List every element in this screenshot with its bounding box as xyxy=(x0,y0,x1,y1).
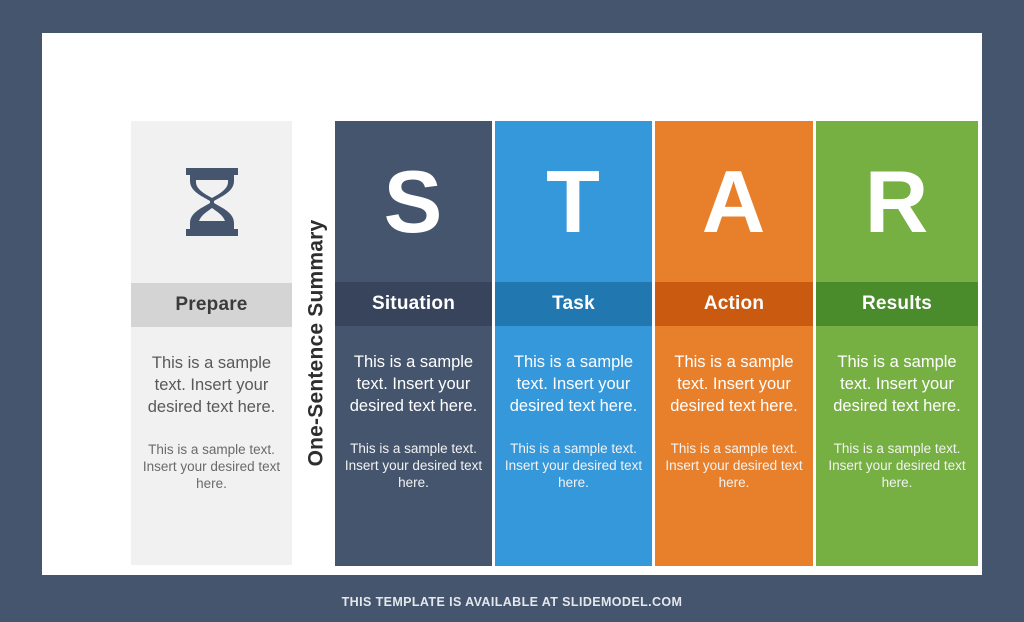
prepare-header: Prepare xyxy=(131,283,292,327)
star-body-task: This is a sample text. Insert your desir… xyxy=(495,326,652,566)
star-lead-text-action: This is a sample text. Insert your desir… xyxy=(663,352,805,418)
star-body-situation: This is a sample text. Insert your desir… xyxy=(335,326,492,566)
star-sub-text-results: This is a sample text. Insert your desir… xyxy=(824,440,970,491)
star-header-results: Results xyxy=(816,282,978,326)
slide-canvas: Prepare This is a sample text. Insert yo… xyxy=(42,33,982,575)
star-sub-text-task: This is a sample text. Insert your desir… xyxy=(503,440,644,491)
prepare-icon-area xyxy=(131,121,292,282)
hourglass-icon xyxy=(182,168,242,236)
star-column-action[interactable]: A Action This is a sample text. Insert y… xyxy=(655,121,813,566)
star-header-label-action: Action xyxy=(704,293,764,315)
star-sub-text-action: This is a sample text. Insert your desir… xyxy=(663,440,805,491)
footer: THIS TEMPLATE IS AVAILABLE AT SLIDEMODEL… xyxy=(0,593,1024,611)
prepare-lead-text: This is a sample text. Insert your desir… xyxy=(139,353,284,419)
star-lead-text-results: This is a sample text. Insert your desir… xyxy=(824,352,970,418)
prepare-header-label: Prepare xyxy=(175,294,247,316)
star-letter-s: S xyxy=(384,158,444,246)
prepare-panel: Prepare This is a sample text. Insert yo… xyxy=(131,121,292,565)
prepare-body: This is a sample text. Insert your desir… xyxy=(131,327,292,565)
star-column-results[interactable]: R Results This is a sample text. Insert … xyxy=(816,121,978,566)
prepare-sub-text: This is a sample text. Insert your desir… xyxy=(139,441,284,492)
star-letter-t: T xyxy=(546,158,601,246)
star-column-task[interactable]: T Task This is a sample text. Insert you… xyxy=(495,121,652,566)
one-sentence-summary-label: One-Sentence Summary xyxy=(296,163,336,523)
star-sub-text-situation: This is a sample text. Insert your desir… xyxy=(343,440,484,491)
star-header-task: Task xyxy=(495,282,652,326)
star-header-action: Action xyxy=(655,282,813,326)
star-letter-area-task: T xyxy=(495,121,652,282)
star-header-label-situation: Situation xyxy=(372,293,455,315)
star-letter-a: A xyxy=(702,158,767,246)
one-sentence-summary-text: One-Sentence Summary xyxy=(304,220,328,467)
star-letter-area-situation: S xyxy=(335,121,492,282)
star-header-label-results: Results xyxy=(862,293,932,315)
star-header-situation: Situation xyxy=(335,282,492,326)
footer-attribution-text: THIS TEMPLATE IS AVAILABLE AT SLIDEMODEL… xyxy=(342,595,683,609)
star-body-action: This is a sample text. Insert your desir… xyxy=(655,326,813,566)
star-letter-r: R xyxy=(865,158,930,246)
star-column-situation[interactable]: S Situation This is a sample text. Inser… xyxy=(335,121,492,566)
star-columns: S Situation This is a sample text. Inser… xyxy=(335,121,978,566)
star-lead-text-situation: This is a sample text. Insert your desir… xyxy=(343,352,484,418)
star-letter-area-results: R xyxy=(816,121,978,282)
star-header-label-task: Task xyxy=(552,293,595,315)
star-letter-area-action: A xyxy=(655,121,813,282)
star-body-results: This is a sample text. Insert your desir… xyxy=(816,326,978,566)
star-lead-text-task: This is a sample text. Insert your desir… xyxy=(503,352,644,418)
